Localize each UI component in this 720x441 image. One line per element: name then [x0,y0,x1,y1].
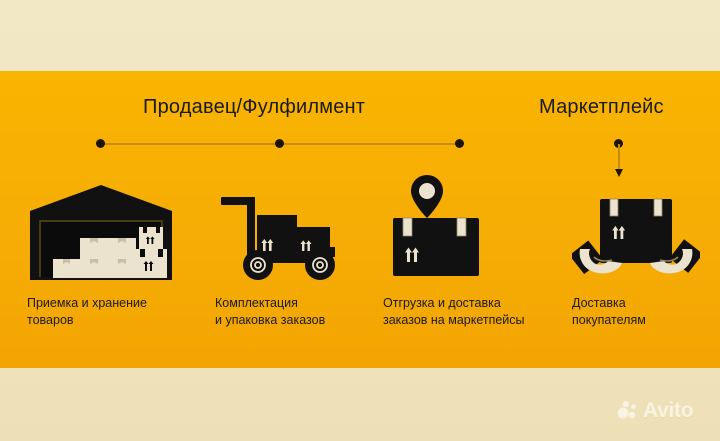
avito-watermark: Avito [617,399,693,421]
timeline-track [96,139,464,149]
avito-dots-icon [617,399,639,421]
heading-seller-fulfilment: Продавец/Фулфилмент [143,96,365,119]
step-item: Приемка и хранение товаров [27,171,192,329]
step-item: Отгрузка и доставка заказов на маркетпей… [383,171,548,329]
heading-marketplace: Маркетплейс [539,96,664,119]
infographic-panel: Продавец/Фулфилмент Маркетплейс [0,71,720,368]
hand-truck-icon [215,171,380,283]
step-label: Приемка и хранение товаров [27,295,192,329]
box-with-location-pin-icon [383,171,548,283]
step-item: Комплектация и упаковка заказов [215,171,380,329]
step-item: Доставка покупателям [572,171,720,329]
step-label: Доставка покупателям [572,295,720,329]
step-label: Комплектация и упаковка заказов [215,295,380,329]
timeline-dot-end [455,139,464,148]
hands-holding-box-icon [572,171,720,283]
arrow-shaft [618,144,620,171]
warehouse-icon [27,171,192,283]
avito-wordmark: Avito [643,400,693,421]
page-canvas: Продавец/Фулфилмент Маркетплейс [0,0,720,441]
timeline-dot-middle [275,139,284,148]
timeline-dot-start [96,139,105,148]
step-label: Отгрузка и доставка заказов на маркетпей… [383,295,548,329]
